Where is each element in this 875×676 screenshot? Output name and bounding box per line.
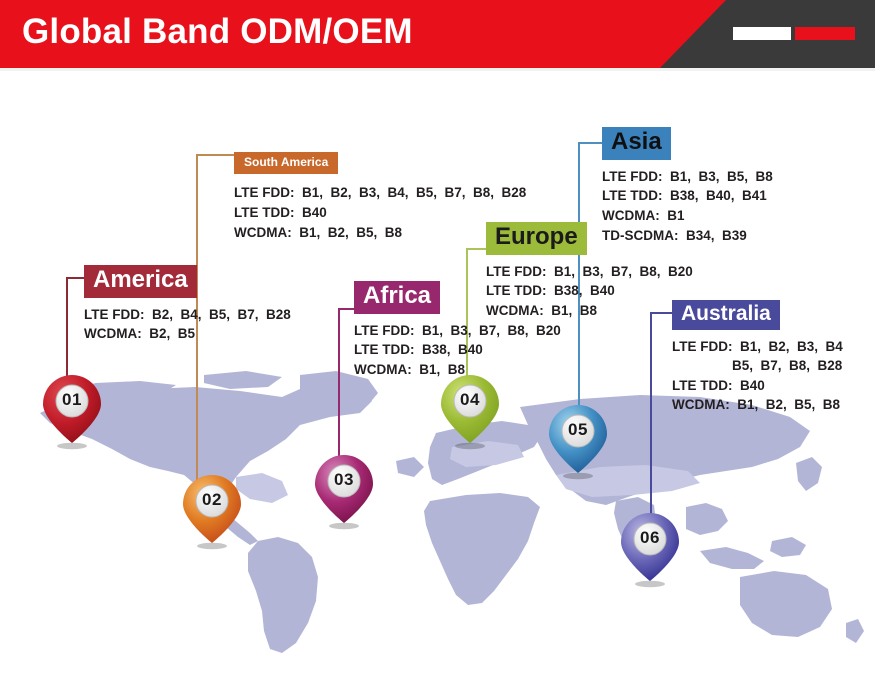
region-south-america: South America LTE FDD: B1, B2, B3, B4, B… [234, 152, 526, 242]
map-pin-number: 01 [41, 390, 103, 410]
band-line: LTE FDD: B1, B2, B3, B4, B5, B7, B8, B28 [234, 183, 526, 203]
map-pin-number: 03 [313, 470, 375, 490]
band-line: LTE FDD: B1, B2, B3, B4 [672, 337, 843, 357]
region-asia: Asia LTE FDD: B1, B3, B5, B8 LTE TDD: B3… [602, 127, 773, 245]
map-pin-number: 02 [181, 490, 243, 510]
band-line: TD-SCDMA: B34, B39 [602, 226, 773, 246]
region-label-asia: Asia [602, 127, 671, 160]
region-america: America LTE FDD: B2, B4, B5, B7, B28 WCD… [84, 265, 291, 344]
region-bands-australia: LTE FDD: B1, B2, B3, B4 B5, B7, B8, B28 … [672, 337, 843, 415]
region-label-europe: Europe [486, 222, 587, 255]
region-label-america: America [84, 265, 197, 298]
band-line: LTE TDD: B40 [234, 203, 526, 223]
band-line: LTE TDD: B40 [672, 376, 843, 396]
header-underline [0, 68, 875, 71]
map-pin-number: 04 [439, 390, 501, 410]
map-pin-05[interactable]: 05 [547, 403, 609, 481]
band-line: LTE TDD: B38, B40, B41 [602, 186, 773, 206]
map-pin-02[interactable]: 02 [181, 473, 243, 551]
band-line: B5, B7, B8, B28 [672, 356, 843, 376]
map-pin-06[interactable]: 06 [619, 511, 681, 589]
band-line: LTE TDD: B38, B40 [354, 340, 561, 360]
header-accent-bar-red [795, 27, 855, 40]
region-label-south-america: South America [234, 152, 338, 174]
map-pin-01[interactable]: 01 [41, 373, 103, 451]
region-bands-america: LTE FDD: B2, B4, B5, B7, B28 WCDMA: B2, … [84, 305, 291, 344]
band-line: LTE FDD: B2, B4, B5, B7, B28 [84, 305, 291, 325]
band-line: LTE TDD: B38, B40 [486, 281, 693, 301]
band-line: LTE FDD: B1, B3, B7, B8, B20 [486, 262, 693, 282]
page-header: Global Band ODM/OEM [0, 0, 875, 68]
header-accent-bar [733, 27, 855, 40]
page-title: Global Band ODM/OEM [22, 8, 413, 56]
region-label-australia: Australia [672, 300, 780, 330]
region-bands-africa: LTE FDD: B1, B3, B7, B8, B20 LTE TDD: B3… [354, 321, 561, 380]
region-label-africa: Africa [354, 281, 440, 314]
band-line: WCDMA: B1, B2, B5, B8 [234, 223, 526, 243]
band-line: WCDMA: B1 [602, 206, 773, 226]
slide-canvas: Global Band ODM/OEM [0, 0, 875, 676]
band-line: WCDMA: B2, B5 [84, 324, 291, 344]
region-australia: Australia LTE FDD: B1, B2, B3, B4 B5, B7… [672, 300, 843, 415]
map-pin-number: 06 [619, 528, 681, 548]
region-bands-asia: LTE FDD: B1, B3, B5, B8 LTE TDD: B38, B4… [602, 167, 773, 245]
band-line: WCDMA: B1, B8 [486, 301, 693, 321]
map-pin-number: 05 [547, 420, 609, 440]
band-line: LTE FDD: B1, B3, B5, B8 [602, 167, 773, 187]
band-line: LTE FDD: B1, B3, B7, B8, B20 [354, 321, 561, 341]
header-accent-bar-white [733, 27, 791, 40]
band-line: WCDMA: B1, B2, B5, B8 [672, 395, 843, 415]
region-bands-europe: LTE FDD: B1, B3, B7, B8, B20 LTE TDD: B3… [486, 262, 693, 321]
region-bands-south-america: LTE FDD: B1, B2, B3, B4, B5, B7, B8, B28… [234, 183, 526, 242]
map-pin-04[interactable]: 04 [439, 373, 501, 451]
map-pin-03[interactable]: 03 [313, 453, 375, 531]
